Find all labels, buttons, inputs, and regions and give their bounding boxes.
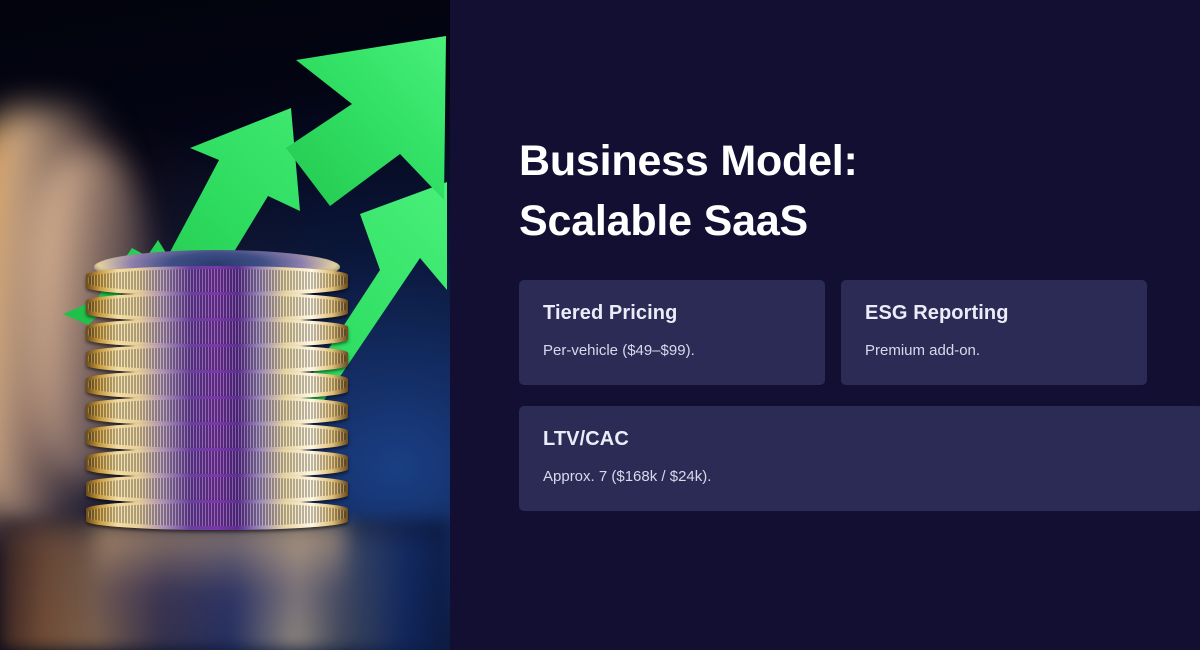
card-body: Per-vehicle ($49–$99). <box>543 341 801 361</box>
card-title: ESG Reporting <box>865 302 1123 325</box>
page-title-line-2: Scalable SaaS <box>519 191 1099 251</box>
hero-image <box>0 0 450 650</box>
card-row-1: Tiered Pricing Per-vehicle ($49–$99). ES… <box>519 280 1200 385</box>
card-row-2: LTV/CAC Approx. 7 ($168k / $24k). <box>519 406 1200 511</box>
coin <box>86 500 348 530</box>
card-title: LTV/CAC <box>543 428 1179 451</box>
slide-root: Business Model: Scalable SaaS Tiered Pri… <box>0 0 1200 650</box>
coin-stack <box>86 258 348 548</box>
highlight-cards: Tiered Pricing Per-vehicle ($49–$99). ES… <box>519 280 1200 511</box>
page-title: Business Model: Scalable SaaS <box>519 131 1099 251</box>
card-body: Approx. 7 ($168k / $24k). <box>543 467 1179 487</box>
card-tiered-pricing[interactable]: Tiered Pricing Per-vehicle ($49–$99). <box>519 280 825 385</box>
card-body: Premium add-on. <box>865 341 1123 361</box>
page-title-line-1: Business Model: <box>519 131 1099 191</box>
content-panel: Business Model: Scalable SaaS Tiered Pri… <box>450 0 1200 650</box>
card-esg-reporting[interactable]: ESG Reporting Premium add-on. <box>841 280 1147 385</box>
card-ltv-cac[interactable]: LTV/CAC Approx. 7 ($168k / $24k). <box>519 406 1200 511</box>
card-title: Tiered Pricing <box>543 302 801 325</box>
